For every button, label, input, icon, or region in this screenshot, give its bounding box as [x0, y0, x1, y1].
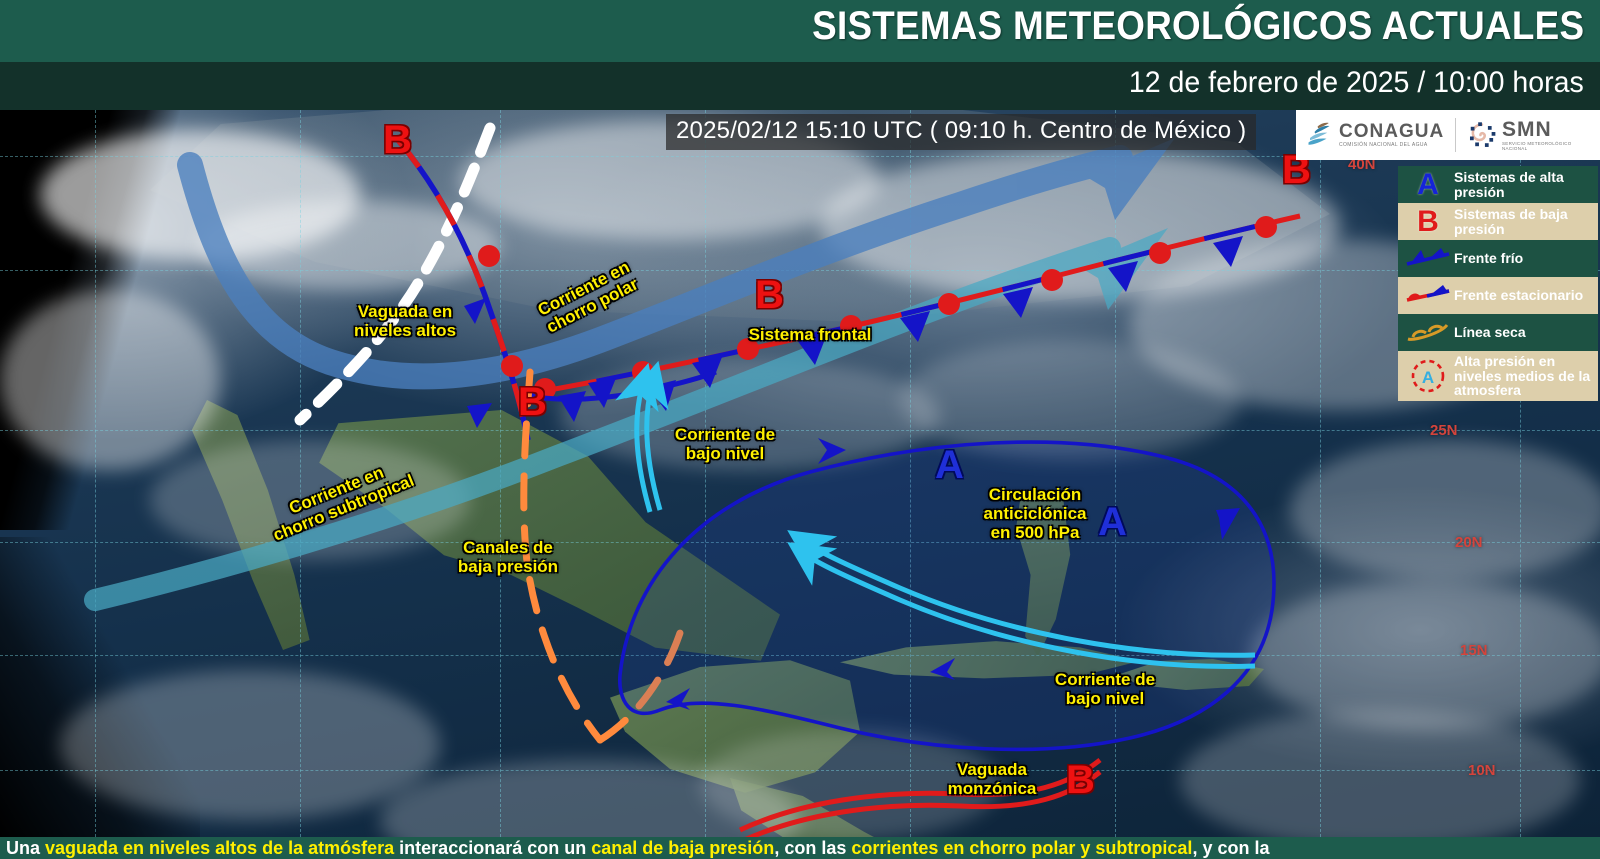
logo-divider: [1455, 118, 1456, 152]
cold-front-icon: [1402, 247, 1454, 271]
legend-item-low-pressure: B Sistemas de baja presión: [1398, 203, 1598, 240]
legend-label: Frente frío: [1454, 251, 1523, 266]
lat-label: 15N: [1460, 642, 1488, 659]
letter-b-icon: B: [1402, 207, 1454, 237]
polar-jet-stream: [190, 138, 1175, 376]
forecast-caption-bar: Una vaguada en niveles altos de la atmós…: [0, 837, 1600, 859]
stationary-front-icon: [1402, 284, 1454, 308]
dry-line-icon: [1402, 321, 1454, 345]
legend-item-dry-line: Línea seca: [1398, 314, 1598, 351]
legend-label: Sistemas de alta presión: [1454, 170, 1594, 199]
smn-subtitle: SERVICIO METEOROLÓGICO NACIONAL: [1502, 142, 1592, 151]
legend-label: Línea seca: [1454, 325, 1526, 340]
lat-label: 10N: [1468, 762, 1496, 779]
legend-panel: A Sistemas de alta presión B Sistemas de…: [1398, 166, 1598, 401]
smn-name: SMN: [1502, 119, 1592, 140]
header-date-bar: 12 de febrero de 2025 / 10:00 horas: [0, 62, 1600, 110]
low-level-jet-gulf: [637, 385, 660, 512]
weather-map-page: SISTEMAS METEOROLÓGICOS ACTUALES 12 de f…: [0, 0, 1600, 859]
conagua-subtitle: COMISIÓN NACIONAL DEL AGUA: [1339, 143, 1444, 148]
monsoon-trough: [740, 760, 1100, 837]
smn-spiral-icon: [1467, 120, 1497, 150]
legend-item-cold-front: Frente frío: [1398, 240, 1598, 277]
legend-item-stationary-front: Frente estacionario: [1398, 277, 1598, 314]
anticyclonic-circulation-500hpa: [620, 438, 1274, 749]
conagua-logo: CONAGUA COMISIÓN NACIONAL DEL AGUA: [1304, 120, 1444, 150]
conagua-name: CONAGUA: [1339, 122, 1444, 141]
lat-label: 25N: [1430, 422, 1458, 439]
legend-item-mid-level-high: A Alta presión en niveles medios de la a…: [1398, 351, 1598, 401]
smn-logo: SMN SERVICIO METEOROLÓGICO NACIONAL: [1467, 119, 1592, 151]
weather-systems-overlay: [0, 110, 1600, 837]
legend-label: Sistemas de baja presión: [1454, 207, 1594, 236]
agency-logo-bar: CONAGUA COMISIÓN NACIONAL DEL AGUA: [1296, 110, 1600, 160]
legend-label: Alta presión en niveles medios de la atm…: [1454, 354, 1594, 398]
forecast-caption-text: Una vaguada en niveles altos de la atmós…: [6, 838, 1269, 859]
header-title-bar: SISTEMAS METEOROLÓGICOS ACTUALES: [0, 0, 1600, 62]
page-title: SISTEMAS METEOROLÓGICOS ACTUALES: [812, 4, 1584, 49]
conagua-eagle-water-icon: [1304, 120, 1334, 150]
satellite-timestamp: 2025/02/12 15:10 UTC ( 09:10 h. Centro d…: [666, 114, 1256, 150]
conagua-text: CONAGUA COMISIÓN NACIONAL DEL AGUA: [1339, 122, 1444, 148]
lat-label: 20N: [1455, 534, 1483, 551]
mid-level-high-icon: A: [1402, 357, 1454, 395]
letter-a-icon: A: [1402, 170, 1454, 200]
satellite-map[interactable]: 40N 25N 20N 15N 10N B B B B B A A Vaguad…: [0, 110, 1600, 837]
legend-item-high-pressure: A Sistemas de alta presión: [1398, 166, 1598, 203]
header-date: 12 de febrero de 2025 / 10:00 horas: [1129, 66, 1584, 100]
svg-text:A: A: [1422, 368, 1434, 387]
legend-label: Frente estacionario: [1454, 288, 1583, 303]
smn-text: SMN SERVICIO METEOROLÓGICO NACIONAL: [1502, 119, 1592, 151]
